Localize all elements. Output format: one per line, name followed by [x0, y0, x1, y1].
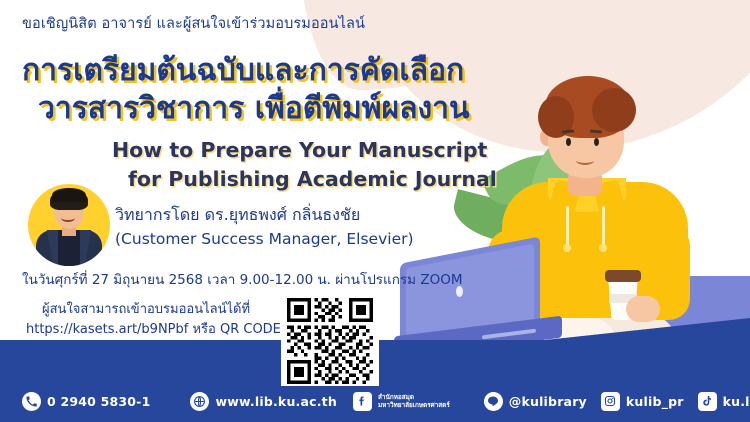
- tiktok-icon: [698, 392, 717, 411]
- phone-icon: [22, 392, 41, 411]
- footer-website-label: www.lib.ku.ac.th: [215, 394, 337, 409]
- page-title-english-line2: for Publishing Academic Journal: [128, 165, 552, 194]
- page-title-thai-line2: วารสารวิชาการ เพื่อตีพิมพ์ผลงาน: [38, 90, 502, 128]
- footer-phone-label: 0 2940 5830-1: [47, 394, 150, 409]
- avatar-smile: [61, 214, 75, 222]
- page-title-thai: การเตรียมต้นฉบับและการคัดเลือก วารสารวิช…: [22, 52, 502, 129]
- footer-facebook[interactable]: สำนักหอสมุด มหาวิทยาลัยเกษตรศาสตร์: [353, 392, 450, 411]
- footer-phone[interactable]: 0 2940 5830-1: [22, 392, 150, 411]
- registration-url: https://kasets.art/b9NPbf หรือ QR CODE: [26, 318, 281, 339]
- qr-code[interactable]: [281, 296, 379, 386]
- hoodie-string-tip-right: [599, 244, 607, 252]
- footer-facebook-label-line2: มหาวิทยาลัยเกษตรศาสตร์: [378, 401, 450, 409]
- person-eye-left: [566, 138, 571, 146]
- coffee-cup-lid: [605, 270, 641, 282]
- line-icon: [484, 392, 503, 411]
- footer-facebook-label: สำนักหอสมุด มหาวิทยาลัยเกษตรศาสตร์: [378, 393, 450, 409]
- footer-line-label: @kulibrary: [509, 394, 587, 409]
- speaker-role: (Customer Success Manager, Elsevier): [115, 230, 414, 248]
- event-datetime: ในวันศุกร์ที่ 27 มิถุนายน 2568 เวลา 9.00…: [22, 268, 463, 290]
- avatar-hair-top: [52, 188, 86, 202]
- person-hand-right: [626, 296, 660, 322]
- poster-canvas: ขอเชิญนิสิต อาจารย์ และผู้สนใจเข้าร่วมอบ…: [0, 0, 750, 422]
- page-title-english-line1: How to Prepare Your Manuscript: [112, 138, 487, 162]
- registration-label: ผู้สนใจสามารถเข้าอบรมออนไลน์ได้ที่: [42, 298, 250, 319]
- page-title-thai-line1: การเตรียมต้นฉบับและการคัดเลือก: [22, 53, 464, 88]
- footer-line[interactable]: @kulibrary: [484, 392, 587, 411]
- person-mouth: [576, 156, 594, 165]
- globe-icon: [190, 392, 209, 411]
- footer-contact-row: 0 2940 5830-1 www.lib.ku.ac.th สำนักหอสม…: [0, 386, 750, 416]
- speaker-avatar: [28, 184, 110, 266]
- person-eye-right: [594, 138, 599, 146]
- person-hair-right-bun: [592, 88, 636, 132]
- hoodie-string-left: [566, 206, 569, 248]
- footer-tiktok[interactable]: ku.library: [698, 392, 750, 411]
- footer-tiktok-label: ku.library: [723, 394, 750, 409]
- footer-website[interactable]: www.lib.ku.ac.th: [190, 392, 337, 411]
- hoodie-string-tip-left: [563, 244, 571, 252]
- instagram-icon: [601, 392, 620, 411]
- facebook-icon: [353, 392, 372, 411]
- footer-instagram[interactable]: kulib_pr: [601, 392, 684, 411]
- hoodie-string-right: [602, 206, 605, 248]
- speaker-name: วิทยากรโดย ดร.ยุทธพงศ์ กลิ่นธงชัย: [115, 203, 360, 228]
- footer-facebook-label-line1: สำนักหอสมุด: [378, 393, 414, 401]
- footer-instagram-label: kulib_pr: [626, 394, 684, 409]
- invite-line: ขอเชิญนิสิต อาจารย์ และผู้สนใจเข้าร่วมอบ…: [22, 12, 365, 35]
- page-title-english: How to Prepare Your Manuscript for Publi…: [112, 136, 552, 194]
